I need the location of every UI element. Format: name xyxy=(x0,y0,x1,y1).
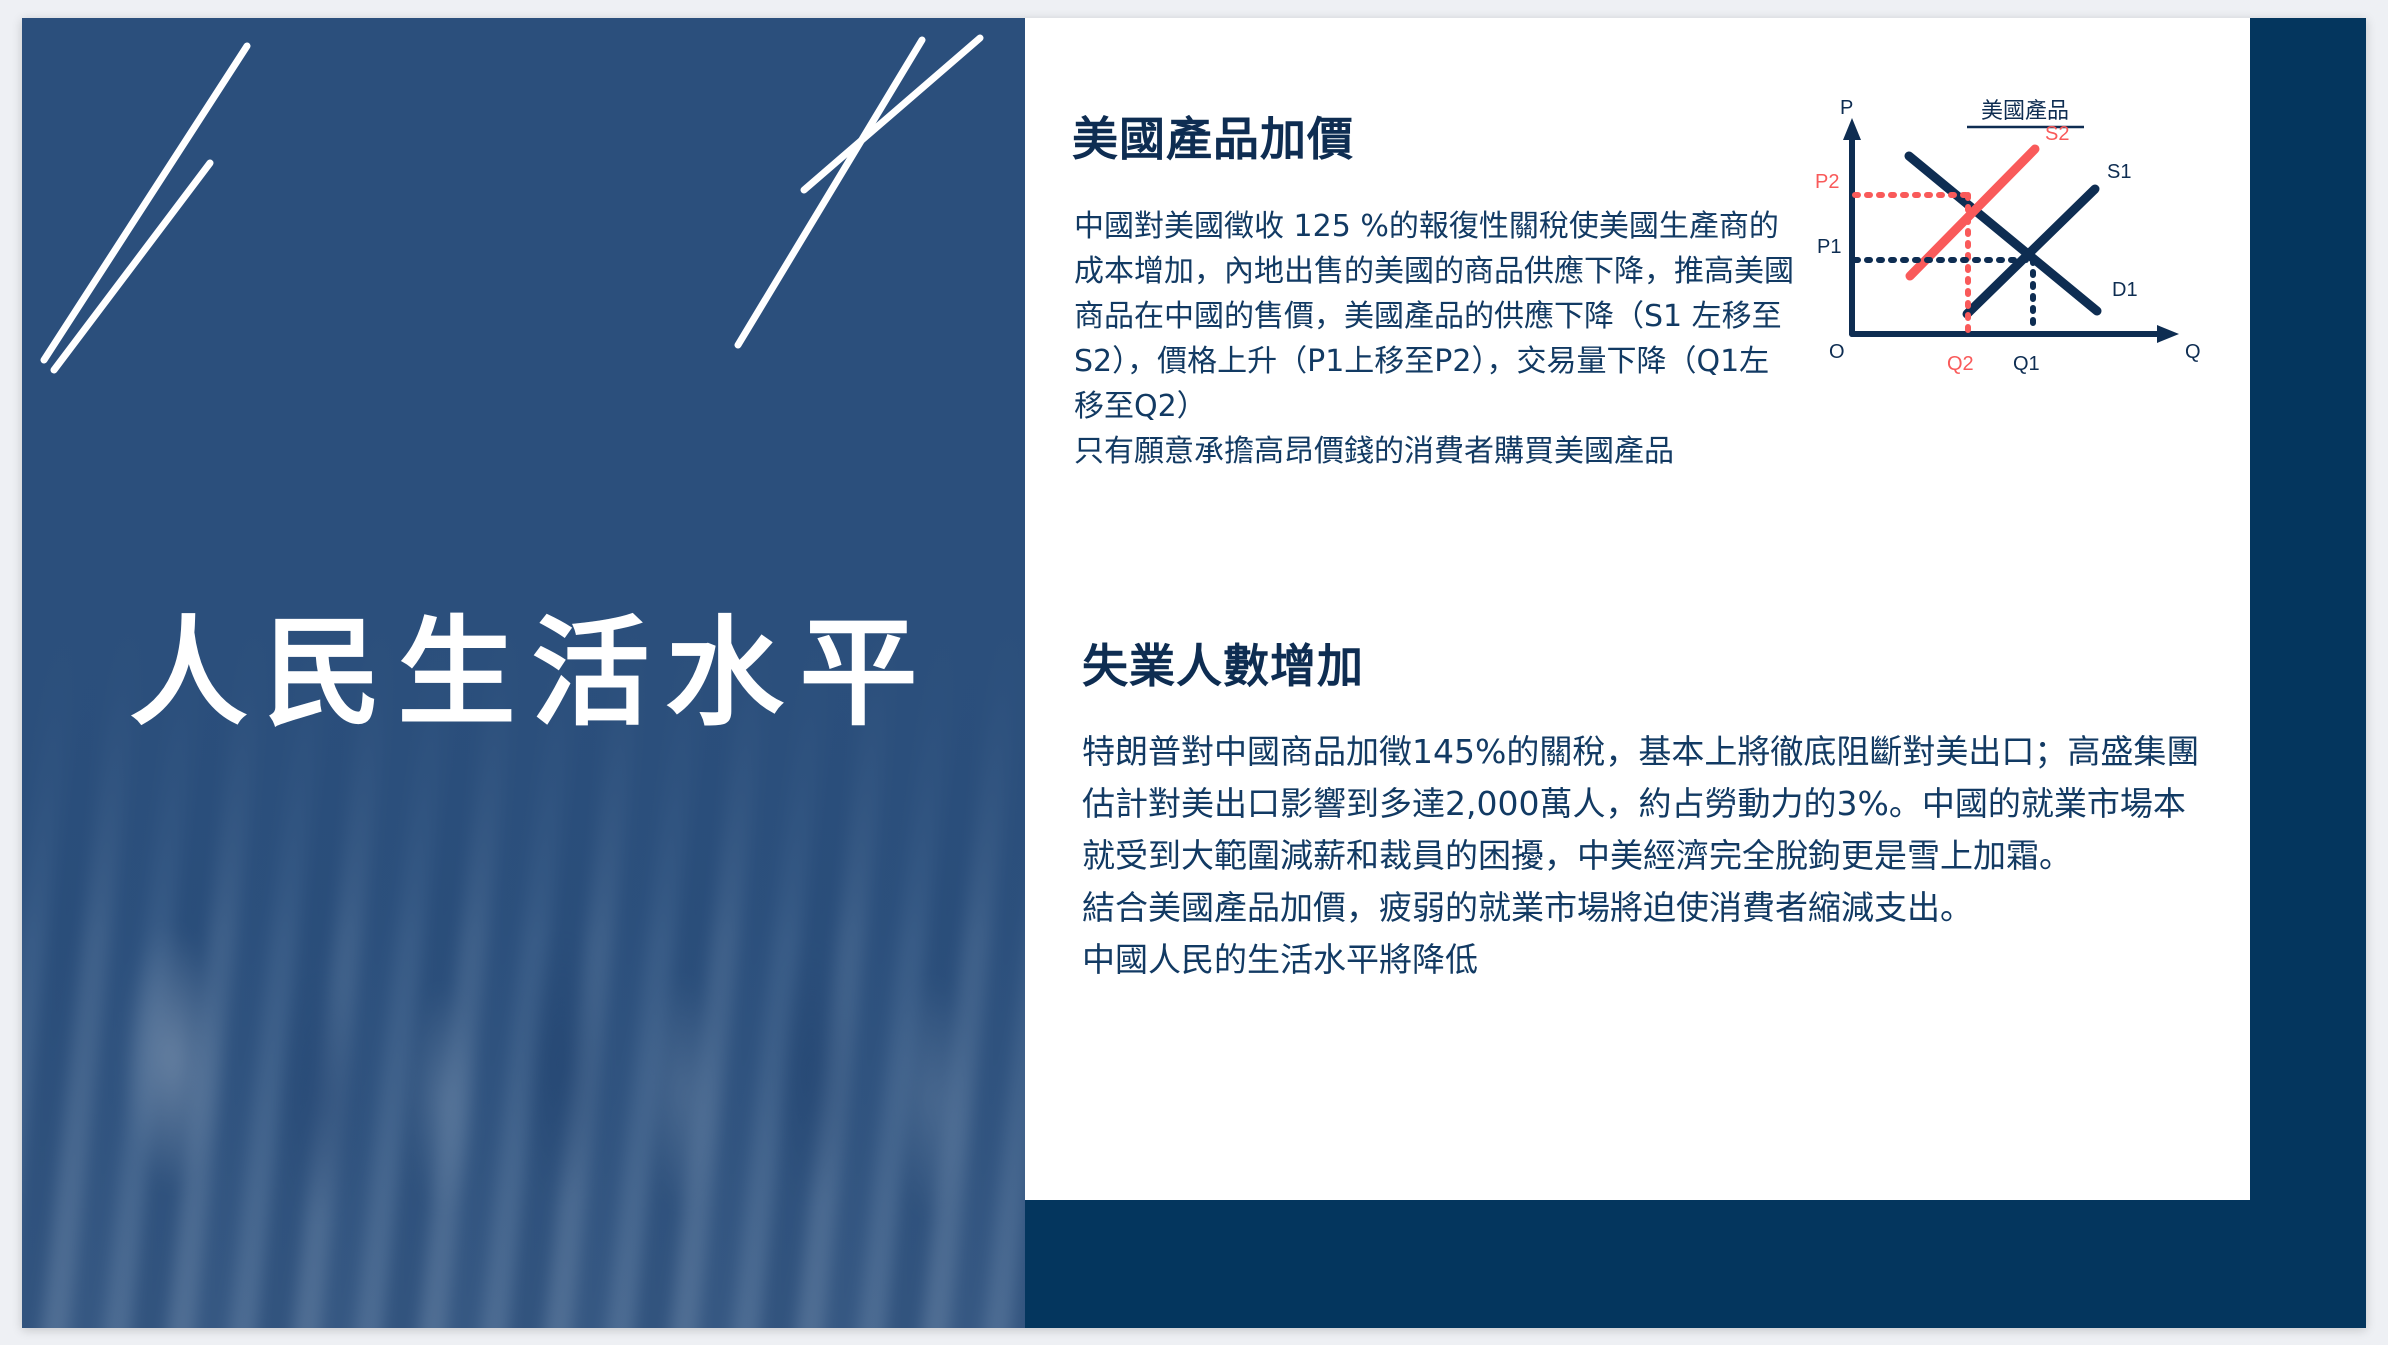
y-axis-arrow xyxy=(1843,118,1861,140)
series-label-d1: D1 xyxy=(2112,279,2138,301)
section-1-heading: 美國產品加價 xyxy=(1072,103,1354,169)
right-navy-strip xyxy=(2250,18,2366,1328)
section-2-paragraph-3: 中國人民的生活水平將降低 xyxy=(1082,934,2207,986)
page-title: 人民生活水平 xyxy=(22,18,1025,1328)
origin-label: O xyxy=(1829,341,1845,363)
section-2-heading: 失業人數增加 xyxy=(1082,630,1364,696)
section-2-body: 特朗普對中國商品加徵145%的關稅，基本上將徹底阻斷對美出口；高盛集團估計對美出… xyxy=(1082,726,2207,986)
x-axis-arrow xyxy=(2157,325,2179,343)
price-tick-p2: P2 xyxy=(1815,171,1839,193)
series-label-s2: S2 xyxy=(2045,123,2069,145)
section-1-paragraph-1: 中國對美國徵收 125 %的報復性關稅使美國生產商的成本增加，內地出售的美國的商… xyxy=(1074,204,1794,429)
section-2-paragraph-1: 特朗普對中國商品加徵145%的關稅，基本上將徹底阻斷對美出口；高盛集團估計對美出… xyxy=(1082,726,2207,882)
supply-demand-chart: 美國產品 P Q O D1 S1 xyxy=(1807,96,2202,386)
slide-canvas: 人民生活水平 美國產品加價 中國對美國徵收 125 %的報復性關稅使美國生產商的… xyxy=(22,18,2366,1328)
series-label-s1: S1 xyxy=(2107,161,2131,183)
bottom-navy-strip xyxy=(1025,1200,2250,1328)
quantity-tick-q2: Q2 xyxy=(1947,353,1974,375)
y-axis-label: P xyxy=(1840,97,1853,119)
price-tick-p1: P1 xyxy=(1817,236,1841,258)
content-inner: 美國產品加價 中國對美國徵收 125 %的報復性關稅使美國生產商的成本增加，內地… xyxy=(1072,18,2202,1200)
section-1-body: 中國對美國徵收 125 %的報復性關稅使美國生產商的成本增加，內地出售的美國的商… xyxy=(1074,204,1794,474)
content-card: 美國產品加價 中國對美國徵收 125 %的報復性關稅使美國生產商的成本增加，內地… xyxy=(1025,18,2250,1200)
section-2-paragraph-2: 結合美國產品加價，疲弱的就業市場將迫使消費者縮減支出。 xyxy=(1082,882,2207,934)
left-title-panel: 人民生活水平 xyxy=(22,18,1025,1328)
section-1-paragraph-2: 只有願意承擔高昂價錢的消費者購買美國產品 xyxy=(1074,429,1794,474)
x-axis-label: Q xyxy=(2185,341,2201,363)
chart-title: 美國產品 xyxy=(1981,98,2069,123)
quantity-tick-q1: Q1 xyxy=(2013,353,2040,375)
